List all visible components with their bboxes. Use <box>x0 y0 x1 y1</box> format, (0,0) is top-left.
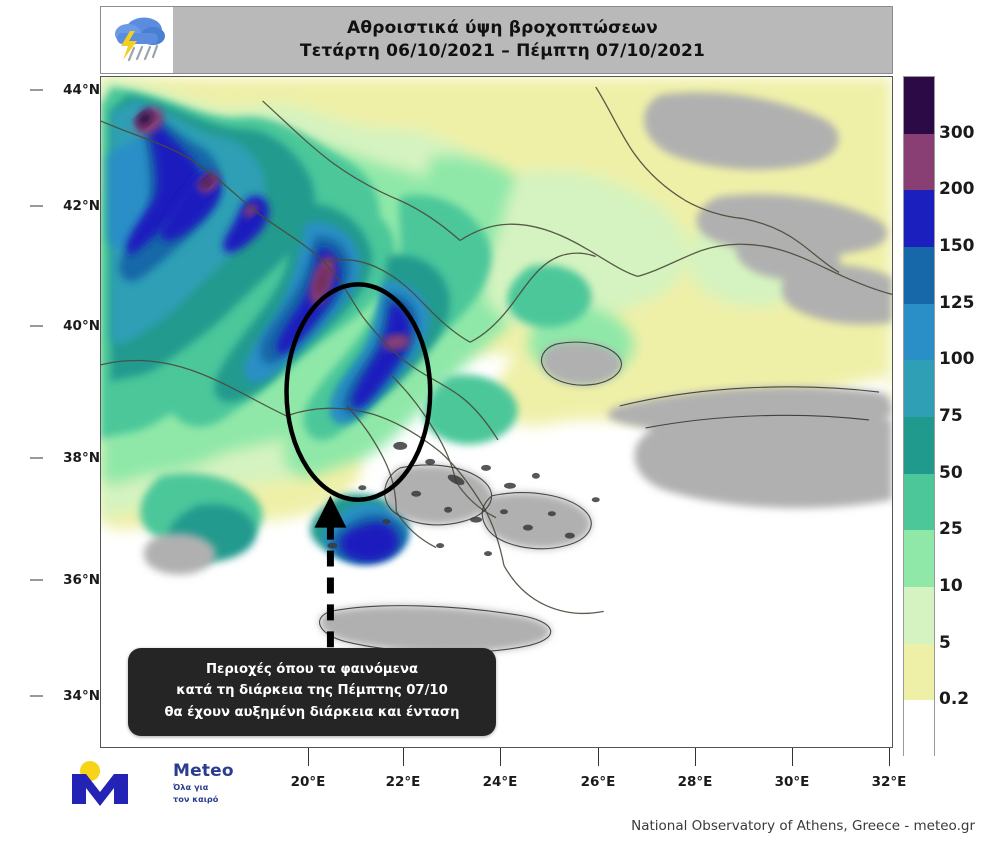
x-tick-mark <box>889 748 890 766</box>
colorbar-tick-label: 100 <box>939 349 975 369</box>
y-tick-label: 40°N <box>63 318 100 334</box>
colorbar-strip <box>903 76 935 756</box>
y-axis: 44°N 42°N 40°N 38°N 36°N 34°N <box>30 76 100 748</box>
colorbar-tick-label: 50 <box>939 463 963 483</box>
colorbar-tick-label: 150 <box>939 236 975 256</box>
annotation-line-1: Περιοχές όπου τα φαινόμενα <box>142 659 482 680</box>
weather-map-figure: Αθροιστικά ύψη βροχοπτώσεων Τετάρτη 06/1… <box>0 0 1000 863</box>
y-tick-mark <box>30 696 43 697</box>
x-tick-label: 22°E <box>386 774 421 790</box>
colorbar-tick-label: 75 <box>939 406 963 426</box>
colorbar-band <box>904 417 934 474</box>
colorbar-band <box>904 474 934 531</box>
x-tick-label: 32°E <box>872 774 907 790</box>
y-tick-label: 42°N <box>63 198 100 214</box>
y-tick-mark <box>30 458 43 459</box>
map-canvas <box>101 77 892 747</box>
colorbar-band <box>904 530 934 587</box>
colorbar-band <box>904 644 934 701</box>
y-tick-mark <box>30 580 43 581</box>
thunderstorm-rain-icon <box>101 7 173 73</box>
y-tick-label: 44°N <box>63 82 100 98</box>
title-line-1: Αθροιστικά ύψη βροχοπτώσεων <box>173 17 832 40</box>
x-tick-label: 20°E <box>291 774 326 790</box>
colorbar-tick-label: 300 <box>939 123 975 143</box>
x-tick-mark <box>792 748 793 766</box>
colorbar-band <box>904 134 934 191</box>
chart-title-bar: Αθροιστικά ύψη βροχοπτώσεων Τετάρτη 06/1… <box>100 6 893 74</box>
y-tick-label: 38°N <box>63 450 100 466</box>
colorbar-legend: 3002001501251007550251050.2 <box>903 76 995 756</box>
annotation-line-2: κατά τη διάρκεια της Πέμπτης 07/10 <box>142 680 482 701</box>
x-tick-mark <box>308 748 309 766</box>
logo-tagline-2: τον καιρό <box>173 794 234 805</box>
x-tick-label: 24°E <box>483 774 518 790</box>
colorbar-band <box>904 304 934 361</box>
colorbar-tick-label: 125 <box>939 293 975 313</box>
annotation-callout: Περιοχές όπου τα φαινόμενα κατά τη διάρκ… <box>128 648 496 736</box>
x-tick-label: 26°E <box>581 774 616 790</box>
logo-tagline-1: Όλα για <box>173 782 234 793</box>
logo-name: Meteo <box>173 761 234 781</box>
y-tick-label: 34°N <box>63 688 100 704</box>
colorbar-tick-label: 5 <box>939 633 951 653</box>
y-tick-label: 36°N <box>63 572 100 588</box>
y-tick-mark <box>30 206 43 207</box>
x-tick-mark <box>403 748 404 766</box>
colorbar-tick-label: 0.2 <box>939 689 969 709</box>
y-tick-mark <box>30 90 43 91</box>
title-line-2: Τετάρτη 06/10/2021 – Πέμπτη 07/10/2021 <box>173 40 832 63</box>
colorbar-tick-label: 10 <box>939 576 963 596</box>
x-tick-label: 28°E <box>678 774 713 790</box>
x-tick-mark <box>500 748 501 766</box>
footer-attribution: National Observatory of Athens, Greece -… <box>0 818 975 834</box>
x-tick-mark <box>598 748 599 766</box>
colorbar-band <box>904 190 934 247</box>
colorbar-tick-label: 25 <box>939 519 963 539</box>
colorbar-band <box>904 700 934 757</box>
colorbar-band <box>904 360 934 417</box>
colorbar-tick-label: 200 <box>939 179 975 199</box>
annotation-line-3: θα έχουν αυξημένη διάρκεια και ένταση <box>142 702 482 723</box>
colorbar-band <box>904 587 934 644</box>
meteo-logo-text: Meteo Όλα για τον καιρό <box>173 761 234 804</box>
x-tick-label: 30°E <box>775 774 810 790</box>
colorbar-band <box>904 247 934 304</box>
meteo-logo[interactable]: Meteo Όλα για τον καιρό <box>68 760 243 810</box>
x-tick-mark <box>695 748 696 766</box>
colorbar-band <box>904 77 934 134</box>
y-tick-mark <box>30 326 43 327</box>
meteo-logo-mark <box>68 760 168 808</box>
page-title: Αθροιστικά ύψη βροχοπτώσεων Τετάρτη 06/1… <box>173 17 892 64</box>
